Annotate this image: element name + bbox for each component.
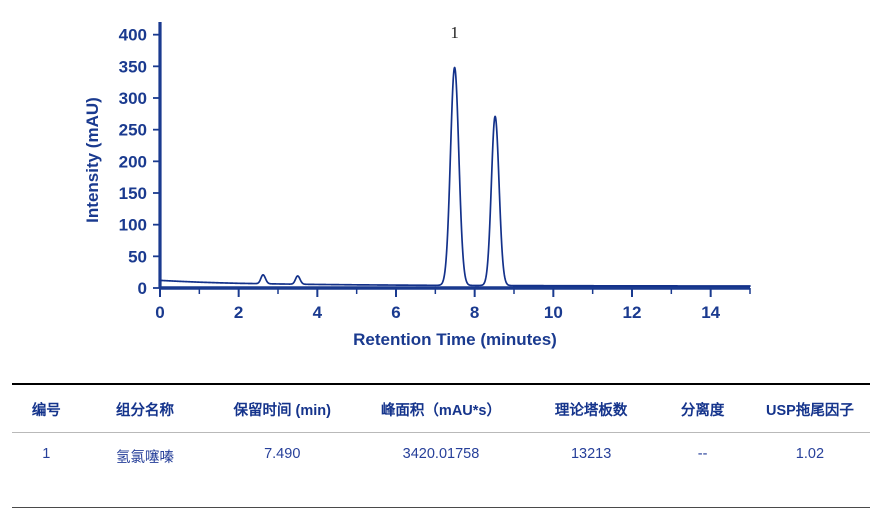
column-header-res: 分离度 xyxy=(655,384,749,433)
peak-annotations: 1 xyxy=(450,23,459,42)
x-axis-title: Retention Time (minutes) xyxy=(353,330,557,349)
svg-text:10: 10 xyxy=(544,303,563,322)
svg-text:200: 200 xyxy=(119,152,147,171)
svg-text:50: 50 xyxy=(128,247,147,266)
column-header-name: 组分名称 xyxy=(81,384,210,433)
table-header: 编号 组分名称 保留时间 (min) 峰面积（mAU*s） 理论塔板数 分离度 … xyxy=(12,384,870,433)
svg-text:350: 350 xyxy=(119,57,147,76)
cell-name: 氢氯噻嗪 xyxy=(81,433,210,508)
svg-text:400: 400 xyxy=(119,26,147,45)
cell-no: 1 xyxy=(12,433,81,508)
cell-res: -- xyxy=(655,433,749,508)
column-header-area: 峰面积（mAU*s） xyxy=(355,384,527,433)
y-axis-title: Intensity (mAU) xyxy=(83,97,102,223)
column-header-tailing: USP拖尾因子 xyxy=(750,384,870,433)
chromatogram-chart: Intensity (mAU) Retention Time (minutes)… xyxy=(0,0,882,370)
table-row: 1 氢氯噻嗪 7.490 3420.01758 13213 -- 1.02 xyxy=(12,433,870,508)
chromatogram-trace xyxy=(160,68,750,286)
column-header-no: 编号 xyxy=(12,384,81,433)
peak-results-table: 编号 组分名称 保留时间 (min) 峰面积（mAU*s） 理论塔板数 分离度 … xyxy=(12,383,870,508)
svg-text:12: 12 xyxy=(623,303,642,322)
svg-text:150: 150 xyxy=(119,184,147,203)
table-body: 1 氢氯噻嗪 7.490 3420.01758 13213 -- 1.02 xyxy=(12,433,870,508)
svg-text:4: 4 xyxy=(313,303,323,322)
svg-text:250: 250 xyxy=(119,121,147,140)
x-axis: 02468101214 xyxy=(155,288,750,322)
y-axis: 050100150200250300350400 xyxy=(119,22,160,298)
column-header-rt: 保留时间 (min) xyxy=(209,384,355,433)
svg-text:1: 1 xyxy=(450,23,459,42)
svg-text:2: 2 xyxy=(234,303,243,322)
chromatogram-svg: Intensity (mAU) Retention Time (minutes)… xyxy=(0,0,882,370)
svg-text:6: 6 xyxy=(391,303,400,322)
cell-tailing: 1.02 xyxy=(750,433,870,508)
svg-text:14: 14 xyxy=(701,303,720,322)
svg-text:100: 100 xyxy=(119,216,147,235)
column-header-plates: 理论塔板数 xyxy=(527,384,656,433)
table-header-row: 编号 组分名称 保留时间 (min) 峰面积（mAU*s） 理论塔板数 分离度 … xyxy=(12,384,870,433)
svg-text:300: 300 xyxy=(119,89,147,108)
cell-area: 3420.01758 xyxy=(355,433,527,508)
svg-text:0: 0 xyxy=(138,279,147,298)
svg-text:8: 8 xyxy=(470,303,479,322)
cell-plates: 13213 xyxy=(527,433,656,508)
svg-text:0: 0 xyxy=(155,303,164,322)
cell-rt: 7.490 xyxy=(209,433,355,508)
